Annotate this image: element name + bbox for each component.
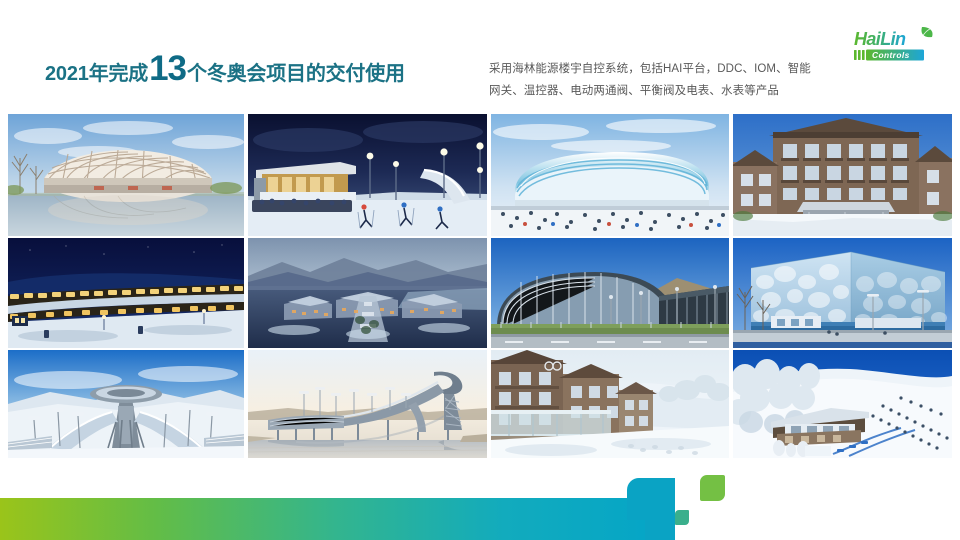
photo-beijing-national-stadium-birds-nest[interactable] [8,114,244,236]
footer-gradient-bar [0,498,645,540]
photo-snow-ruyi-ski-jump-winter[interactable] [8,350,244,458]
body-description: 采用海林能源楼宇自控系统，包括HAI平台，DDC、IOM、智能 网关、温控器、电… [489,58,841,102]
photo-snow-ruyi-ski-jump-reflection[interactable] [248,350,487,458]
body-line-1: 采用海林能源楼宇自控系统，包括HAI平台，DDC、IOM、智能 [489,58,841,80]
photo-national-sliding-centre-night[interactable] [8,238,244,348]
footer-accent-square-large [700,475,725,501]
svg-text:HaiLin: HaiLin [854,29,906,49]
title-number: 13 [149,49,186,88]
photo-cross-country-skiing-centre[interactable] [733,350,952,458]
photo-wukesong-sports-arena[interactable] [491,238,729,348]
photo-national-biathlon-centre-night[interactable] [248,114,487,236]
hailin-controls-logo: HaiLin Controls [852,26,950,62]
footer-decoration [0,455,960,540]
svg-text:Controls: Controls [872,50,910,60]
title-suffix: 个冬奥会项目的交付使用 [187,63,405,85]
photo-olympic-village-hotel-building[interactable] [733,114,952,236]
footer-accent-square-small [675,510,689,525]
olympic-venues-photo-grid [8,114,952,458]
photo-chongli-olympic-village-snow[interactable] [491,350,729,458]
photo-zhangjiakou-olympic-village-aerial[interactable] [248,238,487,348]
body-line-2: 网关、温控器、电动两通阀、平衡阀及电表、水表等产品 [489,80,841,102]
photo-national-aquatics-centre-ice-cube[interactable] [733,238,952,348]
slide-header: 2021年完成13个冬奥会项目的交付使用 采用海林能源楼宇自控系统，包括HAI平… [0,0,960,114]
photo-national-speed-skating-oval[interactable] [491,114,729,236]
footer-step-shape-bottom [645,498,675,540]
title-prefix: 2021年完成 [45,63,148,85]
page-title: 2021年完成13个冬奥会项目的交付使用 [45,49,405,89]
